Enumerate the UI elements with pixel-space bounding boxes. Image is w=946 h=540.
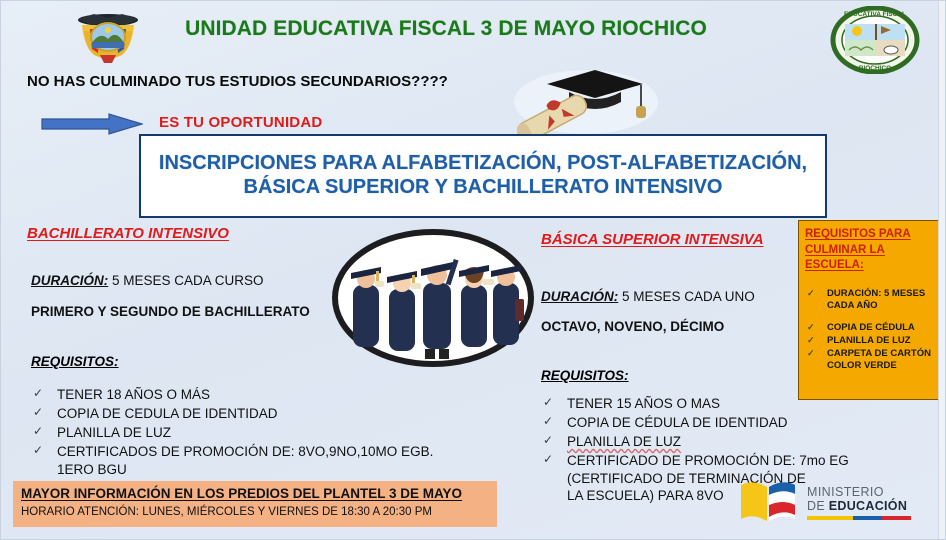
check-icon: ✓ — [543, 395, 553, 410]
check-icon: ✓ — [543, 414, 553, 429]
opportunity-text: ES TU OPORTUNIDAD — [159, 114, 322, 131]
ministry-text: MINISTERIO DE EDUCACIÓN — [807, 486, 911, 521]
info-bar-main-text: MAYOR INFORMACIÓN EN LOS PREDIOS DEL PLA… — [21, 486, 489, 501]
left-column-heading: BACHILLERATO INTENSIVO — [27, 225, 229, 242]
list-item: ✓PLANILLA DE LUZ — [805, 335, 932, 347]
main-title-box: INSCRIPCIONES PARA ALFABETIZACIÓN, POST-… — [139, 134, 827, 218]
middle-column-heading: BÁSICA SUPERIOR INTENSIVA — [541, 231, 764, 248]
middle-requirements-label: REQUISITOS: — [541, 368, 629, 383]
info-bar: MAYOR INFORMACIÓN EN LOS PREDIOS DEL PLA… — [13, 481, 497, 527]
svg-text:RIOCHICO: RIOCHICO — [859, 65, 892, 72]
info-bar-schedule: HORARIO ATENCIÓN: LUNES, MIÉRCOLES Y VIE… — [21, 506, 489, 518]
list-item: ✓PLANILLA DE LUZ — [31, 424, 481, 441]
list-item: ✓COPIA DE CEDULA DE IDENTIDAD — [31, 405, 481, 422]
ministry-logo: MINISTERIO DE EDUCACIÓN — [737, 473, 937, 533]
main-title-text: INSCRIPCIONES PARA ALFABETIZACIÓN, POST-… — [141, 152, 825, 199]
list-item: ✓COPIA DE CÉDULA — [805, 322, 932, 334]
left-duration: DURACIÓN: 5 MESES CADA CURSO — [31, 273, 264, 288]
middle-duration: DURACIÓN: 5 MESES CADA UNO — [541, 289, 755, 304]
ministry-book-flag-icon — [737, 475, 799, 532]
school-seal-icon: EDUCATIVA FISCAL RIOCHICO — [819, 6, 931, 74]
check-icon: ✓ — [33, 443, 43, 458]
question-headline: NO HAS CULMINADO TUS ESTUDIOS SECUNDARIO… — [27, 73, 448, 90]
list-item: ✓COPIA DE CÉDULA DE IDENTIDAD — [541, 414, 871, 431]
list-item: ✓DURACIÓN: 5 MESES CADA AÑO — [805, 288, 932, 312]
left-requirements-label: REQUISITOS: — [31, 354, 119, 369]
check-icon: ✓ — [33, 405, 43, 420]
left-duration-label: DURACIÓN: — [31, 273, 108, 288]
list-item: ✓PLANILLA DE LUZ — [541, 433, 871, 450]
graduation-cap-diploma-icon — [491, 56, 671, 136]
ministry-line1: MINISTERIO — [807, 486, 911, 500]
check-icon: ✓ — [543, 452, 553, 467]
list-item: ✓CARPETA DE CARTÓN COLOR VERDE — [805, 348, 932, 372]
page-title: UNIDAD EDUCATIVA FISCAL 3 DE MAYO RIOCHI… — [161, 17, 731, 41]
middle-levels: OCTAVO, NOVENO, DÉCIMO — [541, 319, 724, 334]
check-icon: ✓ — [33, 424, 43, 439]
middle-duration-label: DURACIÓN: — [541, 289, 618, 304]
check-icon: ✓ — [807, 348, 815, 360]
ecuador-coat-of-arms-icon — [64, 9, 152, 67]
check-icon: ✓ — [807, 322, 815, 334]
ministry-rule — [807, 516, 911, 520]
poster-canvas: UNIDAD EDUCATIVA FISCAL 3 DE MAYO RIOCHI… — [0, 0, 946, 540]
left-requirements-list: ✓TENER 18 AÑOS O MÁS ✓COPIA DE CEDULA DE… — [31, 386, 481, 480]
left-levels: PRIMERO Y SEGUNDO DE BACHILLERATO — [31, 304, 310, 319]
middle-duration-value: 5 MESES CADA UNO — [618, 289, 755, 304]
spacer — [805, 313, 932, 322]
list-item: ✓TENER 18 AÑOS O MÁS — [31, 386, 481, 403]
graduates-group-photo — [331, 229, 536, 367]
check-icon: ✓ — [543, 433, 553, 448]
svg-text:EDUCATIVA FISCAL: EDUCATIVA FISCAL — [844, 11, 906, 18]
check-icon: ✓ — [807, 288, 815, 300]
check-icon: ✓ — [807, 335, 815, 347]
orange-box-title: REQUISITOS PARA CULMINAR LA ESCUELA: — [805, 227, 932, 274]
check-icon: ✓ — [33, 386, 43, 401]
list-item: ✓CERTIFICADOS DE PROMOCIÓN DE: 8VO,9NO,1… — [31, 443, 481, 477]
scrollbar-track[interactable] — [938, 1, 945, 540]
orange-requirements-box: REQUISITOS PARA CULMINAR LA ESCUELA: ✓DU… — [798, 220, 939, 400]
ministry-line2: DE EDUCACIÓN — [807, 500, 911, 514]
orange-box-list: ✓DURACIÓN: 5 MESES CADA AÑO ✓COPIA DE CÉ… — [805, 288, 932, 373]
right-arrow-icon — [41, 113, 143, 135]
left-duration-value: 5 MESES CADA CURSO — [108, 273, 263, 288]
